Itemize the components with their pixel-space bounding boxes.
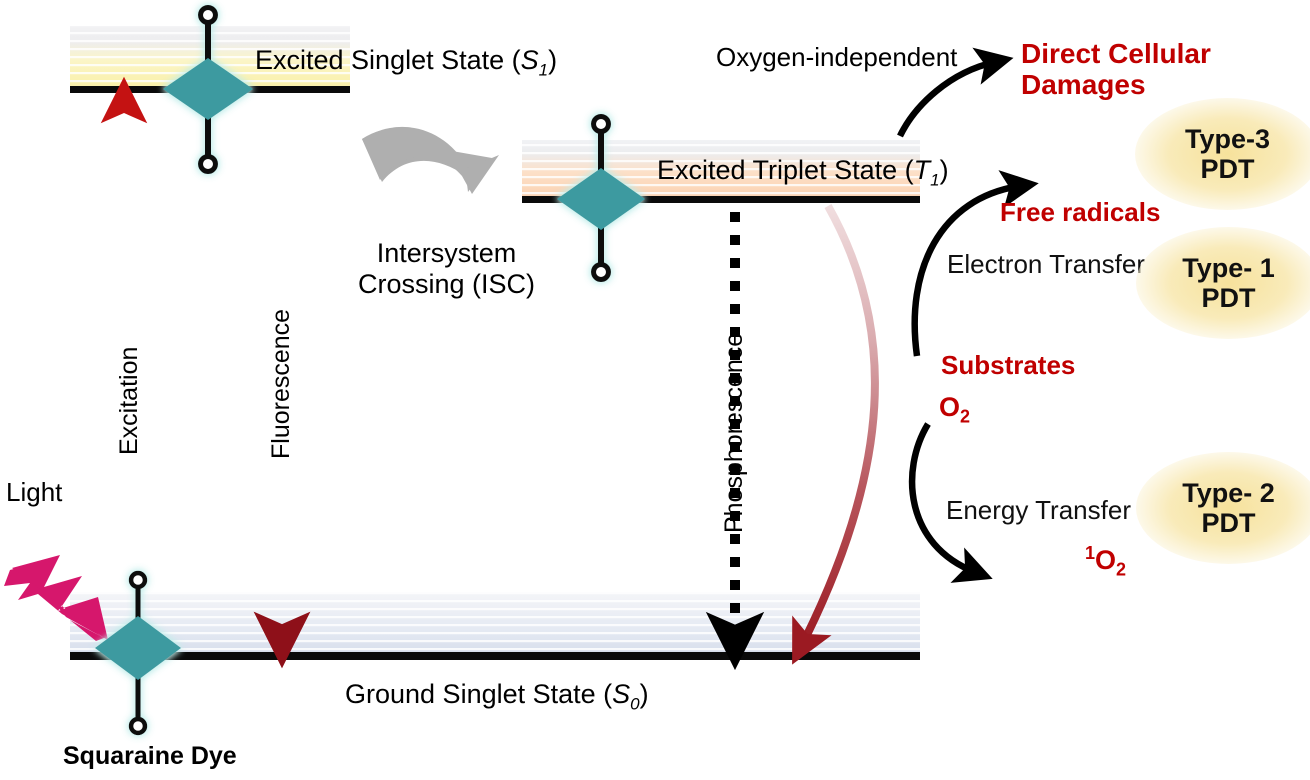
excitation-label: Excitation (115, 347, 144, 455)
s0-state-label: Ground Singlet State (S0) (345, 679, 649, 714)
s1-state-label: Excited Singlet State (S1) (255, 45, 557, 80)
pdt-type-1-line2: PDT (1182, 283, 1275, 313)
pdt-type-2-badge: Type- 2 PDT (1136, 452, 1310, 564)
oxygen-independent-arrow (900, 62, 995, 136)
direct-cellular-damages-line1: Direct Cellular (1021, 38, 1211, 69)
intersystem-crossing-label: Intersystem Crossing (ISC) (358, 238, 535, 300)
isc-label-line2: Crossing (ISC) (358, 269, 535, 300)
intersystem-crossing-arrow (362, 127, 499, 194)
light-label: Light (6, 477, 62, 508)
substrates-label: Substrates (941, 350, 1075, 381)
squaraine-dye-label: Squaraine Dye (63, 742, 237, 771)
pdt-type-1-badge: Type- 1 PDT (1136, 227, 1310, 339)
pdt-type-2-line1: Type- 2 (1182, 478, 1275, 508)
fluorescence-label: Fluorescence (267, 309, 296, 459)
pdt-type-1-line1: Type- 1 (1182, 253, 1275, 283)
oxygen-label: O2 (939, 392, 970, 427)
phosphorescence-label: Phosphorescence (720, 333, 749, 533)
direct-cellular-damages-line2: Damages (1021, 69, 1211, 100)
s0-energy-band (70, 592, 920, 660)
t1-state-label: Excited Triplet State (T1) (657, 155, 949, 190)
electron-transfer-label: Electron Transfer (947, 249, 1145, 280)
pdt-type-3-badge: Type-3 PDT (1135, 98, 1310, 210)
pdt-type-3-line2: PDT (1185, 154, 1270, 184)
jablonski-diagram-canvas: Excited Singlet State (S1) Excited Tripl… (0, 0, 1310, 780)
singlet-oxygen-label: 1O2 (1085, 543, 1126, 580)
diagram-vector-layer (0, 0, 1310, 780)
free-radicals-label: Free radicals (1000, 197, 1160, 228)
pdt-type-3-line1: Type-3 (1185, 124, 1270, 154)
pdt-type-2-line2: PDT (1182, 508, 1275, 538)
direct-cellular-damages-label: Direct Cellular Damages (1021, 38, 1211, 101)
isc-label-line1: Intersystem (358, 238, 535, 269)
oxygen-independent-label: Oxygen-independent (716, 42, 957, 73)
energy-transfer-label: Energy Transfer (946, 495, 1131, 526)
triplet-decay-curve (802, 206, 875, 645)
